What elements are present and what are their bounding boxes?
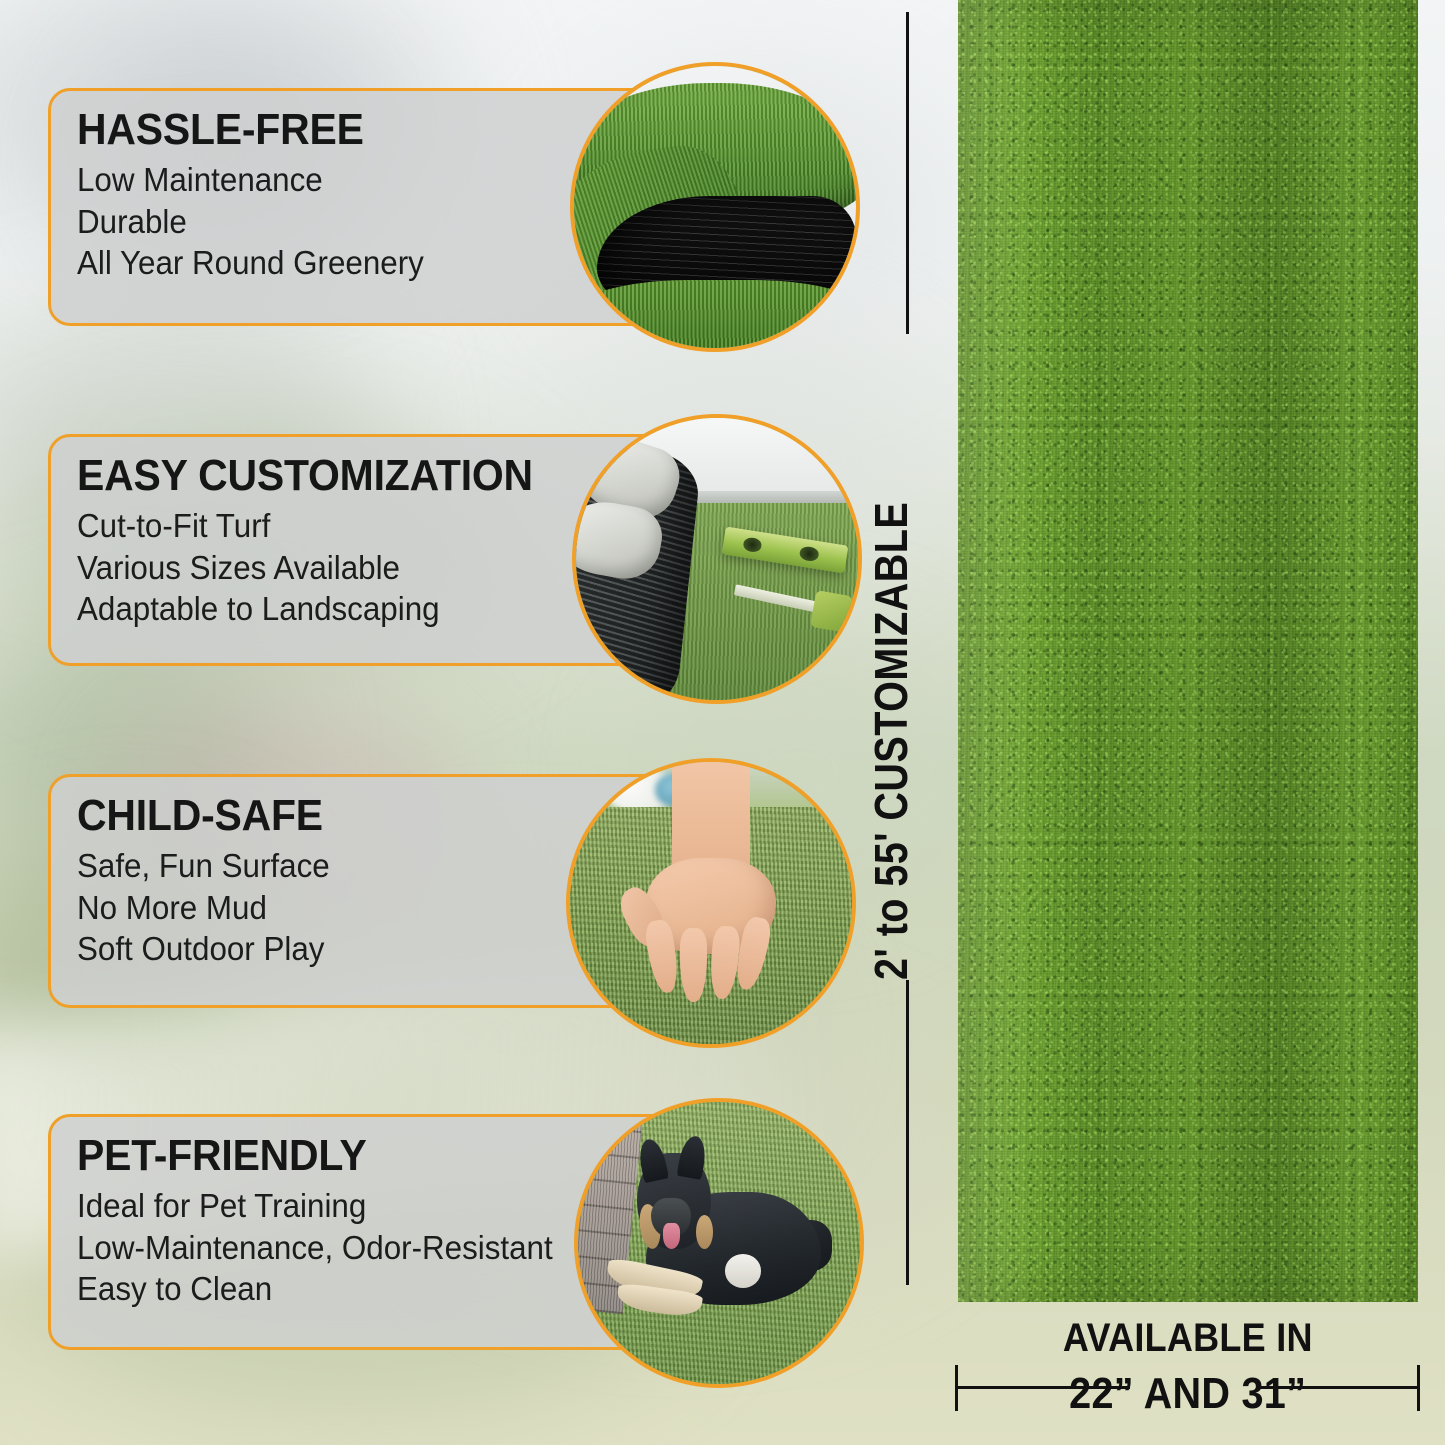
bottom-size-caption: AVAILABLE IN 22” AND 31” bbox=[955, 1318, 1420, 1416]
dog-tongue bbox=[663, 1223, 680, 1248]
available-in-label: AVAILABLE IN bbox=[1063, 1318, 1313, 1358]
child-finger bbox=[680, 928, 707, 1001]
feature-bullet: Low-Maintenance, Odor-Resistant bbox=[77, 1227, 553, 1269]
feature-bullet: Cut-to-Fit Turf bbox=[77, 505, 270, 547]
feature-title: EASY CUSTOMIZATION bbox=[77, 453, 533, 499]
feature-bullet: Safe, Fun Surface bbox=[77, 845, 330, 887]
feature-bullet: All Year Round Greenery bbox=[77, 242, 424, 284]
artificial-grass-turf-roll bbox=[958, 0, 1418, 1302]
feature-title: PET-FRIENDLY bbox=[77, 1133, 367, 1179]
turf-shading bbox=[958, 0, 1418, 1302]
feature-bullet: Adaptable to Landscaping bbox=[77, 588, 440, 630]
feature-bullet: Various Sizes Available bbox=[77, 547, 400, 589]
vertical-size-label: 2' to 55' CUSTOMIZABLE bbox=[861, 340, 921, 980]
dimension-end-cap-right bbox=[1417, 1365, 1420, 1411]
rolled-turf-image bbox=[574, 66, 856, 348]
feature-bullet: Durable bbox=[77, 201, 187, 243]
horizontal-dimension-line bbox=[955, 1386, 1420, 1389]
vertical-dimension-line-upper bbox=[906, 12, 909, 334]
turf-installation-image bbox=[576, 418, 858, 700]
feature-title: HASSLE-FREE bbox=[77, 107, 364, 153]
rolled-turf-photo bbox=[570, 62, 860, 352]
dog-on-turf-image bbox=[578, 1102, 860, 1384]
horizontal-dimension-line-left bbox=[955, 1386, 1130, 1389]
child-hand-image bbox=[570, 762, 852, 1044]
dimension-end-cap-left bbox=[955, 1365, 958, 1411]
feature-bullet: No More Mud bbox=[77, 887, 267, 929]
feature-bullet: Low Maintenance bbox=[77, 159, 323, 201]
feature-title: CHILD-SAFE bbox=[77, 793, 323, 839]
turf-installation-photo bbox=[572, 414, 862, 704]
dog-on-turf-photo bbox=[574, 1098, 864, 1388]
child-hand-on-turf-photo bbox=[566, 758, 856, 1048]
horizontal-dimension-line-right bbox=[1258, 1386, 1420, 1389]
tape-measure-case bbox=[810, 590, 852, 632]
vertical-dimension-line-lower bbox=[906, 980, 909, 1285]
available-widths-label: 22” AND 31” bbox=[1069, 1372, 1306, 1416]
feature-bullet: Ideal for Pet Training bbox=[77, 1185, 366, 1227]
feature-bullet: Easy to Clean bbox=[77, 1268, 272, 1310]
feature-bullet: Soft Outdoor Play bbox=[77, 928, 324, 970]
vertical-size-label-text: 2' to 55' CUSTOMIZABLE bbox=[864, 502, 918, 980]
turf-base-layer bbox=[570, 280, 860, 352]
dog-chest-marking bbox=[725, 1254, 762, 1288]
infographic-canvas: 2' to 55' CUSTOMIZABLE AVAILABLE IN 22” … bbox=[0, 0, 1445, 1445]
